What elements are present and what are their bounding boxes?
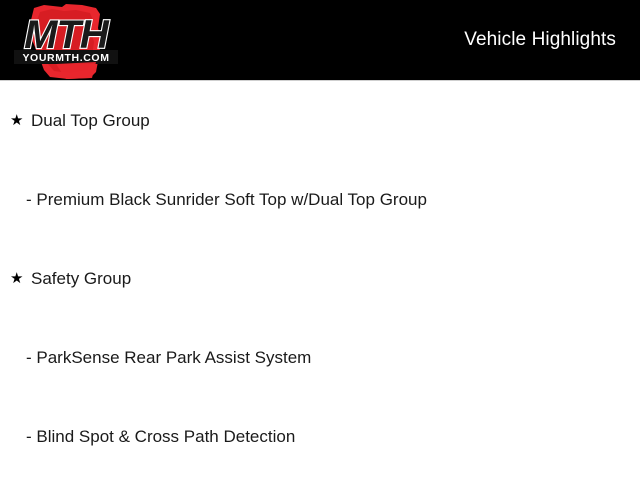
page-header: MTH YOURMTH.COM Vehicle Highlights — [0, 0, 640, 81]
star-icon: ★ — [10, 239, 26, 318]
highlight-group-label: Dual Top Group — [31, 81, 150, 160]
mth-logo-graphic: MTH YOURMTH.COM — [4, 0, 128, 81]
mth-logo[interactable]: MTH YOURMTH.COM — [4, 0, 128, 81]
highlight-sub-label: - Blind Spot & Cross Path Detection — [26, 397, 295, 476]
mth-tagline: YOURMTH.COM — [22, 52, 109, 64]
highlight-sub-row: - ParkSense Rear Park Assist System — [0, 318, 640, 397]
vehicle-highlights-list: ★Dual Top Group - Premium Black Sunrider… — [0, 81, 640, 476]
page-title: Vehicle Highlights — [464, 29, 616, 51]
highlight-group-row: ★Dual Top Group — [0, 81, 640, 160]
highlight-sub-label: - ParkSense Rear Park Assist System — [26, 318, 311, 397]
highlight-group-row: ★Safety Group — [0, 239, 640, 318]
highlight-sub-row: - Blind Spot & Cross Path Detection — [0, 397, 640, 476]
highlight-group-label: Safety Group — [31, 239, 131, 318]
star-icon: ★ — [10, 81, 26, 160]
highlight-sub-row: - Premium Black Sunrider Soft Top w/Dual… — [0, 160, 640, 239]
highlight-sub-label: - Premium Black Sunrider Soft Top w/Dual… — [26, 160, 427, 239]
